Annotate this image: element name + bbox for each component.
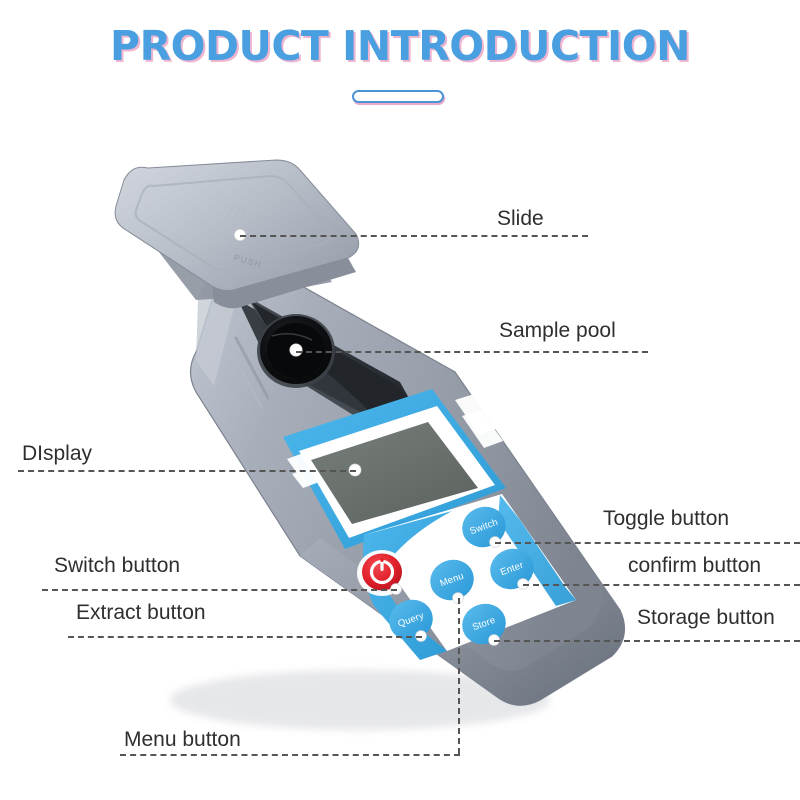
callout-toggle-button: Toggle button: [603, 508, 729, 529]
leader-sample-pool: [296, 351, 648, 353]
leader-slide: [240, 235, 588, 237]
leader-extract-button: [68, 636, 422, 638]
callout-confirm-button: confirm button: [628, 555, 761, 576]
sample-pool-connector-dot: [290, 344, 302, 356]
leader-switch-button: [42, 589, 397, 591]
callout-display: DIsplay: [22, 443, 92, 464]
callout-extract-button: Extract button: [76, 602, 206, 623]
callout-storage-button: Storage button: [637, 607, 775, 628]
leader-storage-button: [494, 640, 800, 642]
leader-menu-button: [120, 754, 460, 756]
callout-slide: Slide: [497, 208, 544, 229]
callout-sample-pool: Sample pool: [499, 320, 616, 341]
leader-menu-button-vertical: [458, 598, 460, 754]
leader-toggle-button: [495, 542, 800, 544]
callout-switch-button: Switch button: [54, 555, 180, 576]
turbidity-meter-svg: PUSH: [0, 0, 800, 800]
product-introduction-page: PRODUCT INTRODUCTION: [0, 0, 800, 800]
device-illustration: PUSH: [0, 0, 800, 800]
callout-menu-button: Menu button: [124, 729, 241, 750]
leader-display: [18, 470, 356, 472]
leader-confirm-button: [523, 584, 800, 586]
